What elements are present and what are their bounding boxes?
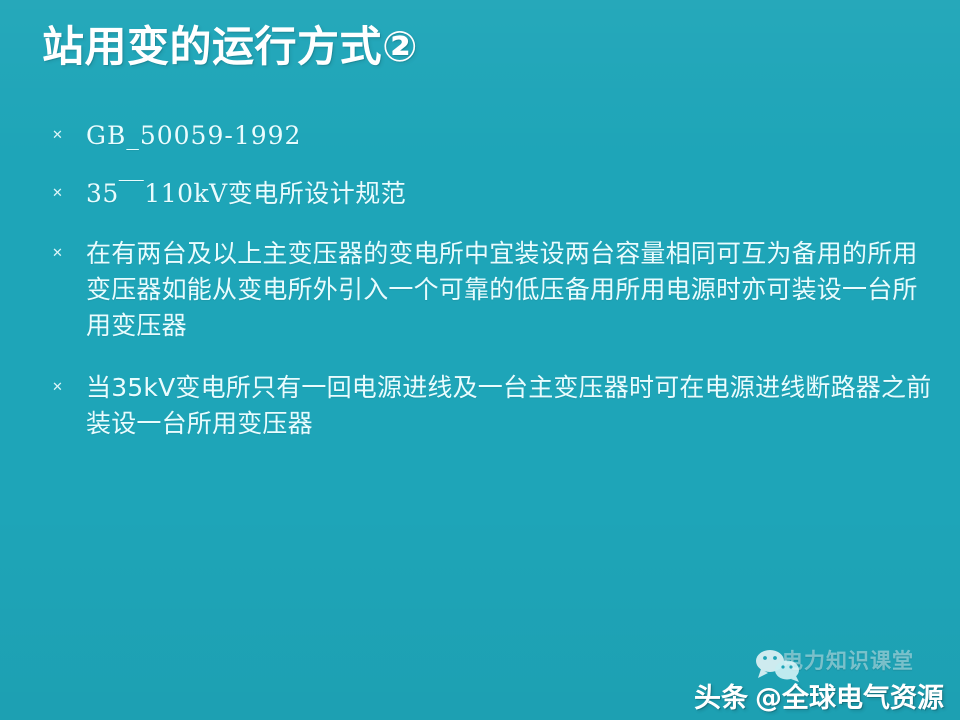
list-item-text: 在有两台及以上主变压器的变电所中宜装设两台容量相同可互为备用的所用变压器如能从变… — [86, 236, 934, 344]
list-item: ✕ 当35kV变电所只有一回电源进线及一台主变压器时可在电源进线断路器之前装设一… — [44, 370, 934, 442]
list-item: ✕ 35￣110kV变电所设计规范 — [44, 176, 934, 212]
bullet-marker-icon: ✕ — [44, 176, 86, 212]
bullet-marker-icon: ✕ — [44, 236, 86, 272]
toutiao-watermark: 头条 @全球电气资源 — [694, 676, 944, 715]
watermark-handle: @全球电气资源 — [755, 676, 944, 715]
list-item-text: GB_50059-1992 — [86, 118, 934, 154]
slide-canvas: 站用变的运行方式② ✕ GB_50059-1992 ✕ 35￣110kV变电所设… — [0, 0, 960, 720]
watermark-brand: 头条 — [694, 676, 748, 715]
bullet-marker-icon: ✕ — [44, 118, 86, 154]
bullet-marker-icon: ✕ — [44, 370, 86, 406]
list-item-text: 35￣110kV变电所设计规范 — [86, 176, 934, 212]
list-item-text: 当35kV变电所只有一回电源进线及一台主变压器时可在电源进线断路器之前装设一台所… — [86, 370, 934, 442]
bullet-list: ✕ GB_50059-1992 ✕ 35￣110kV变电所设计规范 ✕ 在有两台… — [44, 118, 934, 442]
title-block: 站用变的运行方式② — [42, 18, 922, 80]
list-item: ✕ GB_50059-1992 — [44, 118, 934, 154]
page-title: 站用变的运行方式② — [42, 18, 922, 76]
list-item: ✕ 在有两台及以上主变压器的变电所中宜装设两台容量相同可互为备用的所用变压器如能… — [44, 236, 934, 344]
